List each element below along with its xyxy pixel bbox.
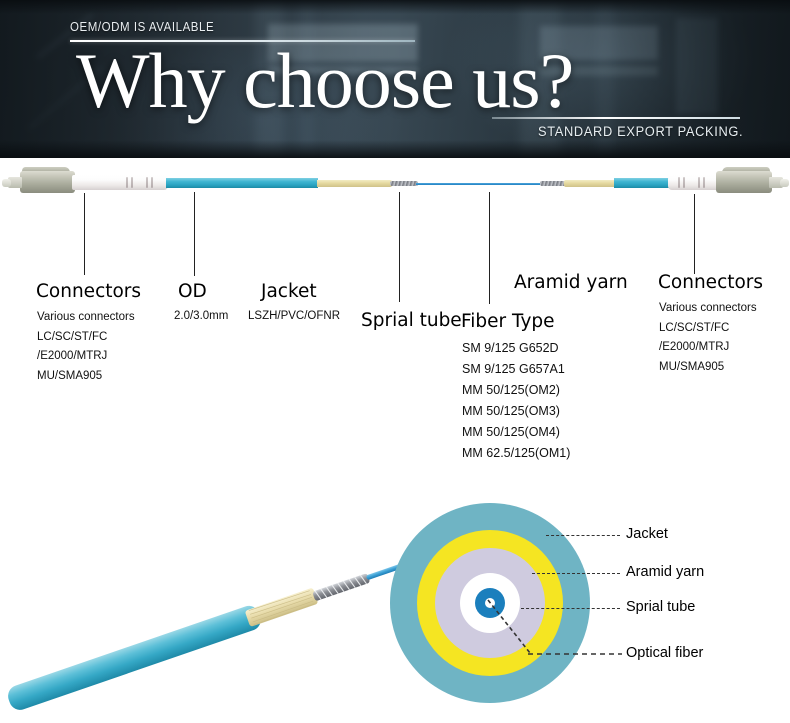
callout-line: LC/SC/ST/FC [37,328,135,348]
callout-line: MU/SMA905 [37,367,135,387]
callout-line: SM 9/125 G652D [462,338,570,359]
leader-line-fiber-type [489,192,490,304]
cross-section-label-jacket: Jacket [626,526,668,542]
lc-connector-left-ferrule [2,179,11,187]
boot-ring [683,177,685,188]
cross-section-label-optical-fiber: Optical fiber [626,645,703,661]
dash-leader-jacket [546,535,620,536]
cable-boot-left [72,175,168,190]
leader-line-od [194,192,195,276]
callout-title-od: OD [178,281,207,302]
leader-line-connectors-right [694,194,695,274]
callout-line: Various connectors [37,308,135,328]
lc-connector-right-body [716,171,772,193]
cable-segment-jacket-right [614,178,670,188]
cable-segment-spiral-tube-right [540,181,566,186]
boot-ring [146,177,148,188]
banner-subline: STANDARD EXPORT PACKING. [538,124,743,139]
callout-title-connectors-right: Connectors [658,272,763,293]
callout-title-connectors-left: Connectors [36,281,141,302]
callout-line: MU/SMA905 [659,358,757,378]
callout-line: MM 50/125(OM4) [462,422,570,443]
banner-kicker-text: OEM/ODM IS AVAILABLE [70,20,214,34]
callout-line: MM 50/125(OM3) [462,401,570,422]
boot-ring [698,177,700,188]
lc-connector-right-ferrule [780,179,789,187]
cable-segment-aramid-yarn-right [564,180,616,187]
callout-line: Various connectors [659,299,757,319]
callout-title-jacket: Jacket [261,281,317,302]
cutaway-svg [0,490,400,718]
callout-line: /E2000/MTRJ [659,338,757,358]
callout-lines-fiber-type: SM 9/125 G652D SM 9/125 G657A1 MM 50/125… [462,338,570,464]
banner-top-fade [0,0,790,14]
leader-line-sprial-tube [399,192,400,302]
leader-line-connectors-left [84,193,85,275]
callout-title-aramid-yarn: Aramid yarn [514,272,628,293]
cross-section-label-sprial-tube: Sprial tube [626,599,695,615]
cable-cutaway-illustration [0,490,400,718]
dash-leader-optical-fiber-svg [470,595,630,665]
boot-ring [151,177,153,188]
boot-ring [126,177,128,188]
cutaway-spiral-tube [312,573,370,601]
callout-title-fiber-type: Fiber Type [461,311,555,332]
boot-ring [703,177,705,188]
hero-banner: OEM/ODM IS AVAILABLE Why choose us? STAN… [0,0,790,158]
cable-segment-optical-fiber [416,183,542,186]
cable-segment-jacket-left [166,178,318,188]
banner-headline: Why choose us? [76,42,573,120]
cable-segment-spiral-tube-left [390,181,418,186]
callout-line: SM 9/125 G657A1 [462,359,570,380]
callout-lines-connectors-left: Various connectors LC/SC/ST/FC /E2000/MT… [37,308,135,386]
cross-section-label-aramid-yarn: Aramid yarn [626,564,704,580]
callout-lines-connectors-right: Various connectors LC/SC/ST/FC /E2000/MT… [659,299,757,377]
banner-sub-rule [492,117,740,119]
callout-line: MM 62.5/125(OM1) [462,443,570,464]
cable-segment-aramid-yarn-left [317,180,392,187]
cutaway-aramid-yarn [245,587,319,627]
dash-leader-aramid-yarn [532,573,620,574]
callout-title-sprial-tube: Sprial tube [361,310,462,331]
boot-ring [131,177,133,188]
callout-line: /E2000/MTRJ [37,347,135,367]
callout-line: LC/SC/ST/FC [659,319,757,339]
lc-connector-left-body [20,171,75,193]
boot-ring [678,177,680,188]
callout-line-od: 2.0/3.0mm [174,310,228,322]
callout-line: MM 50/125(OM2) [462,380,570,401]
fiber-patch-cable-illustration [0,158,790,218]
cutaway-jacket [5,603,264,713]
banner-bottom-fade [0,140,790,158]
callout-line-jacket: LSZH/PVC/OFNR [248,310,340,322]
